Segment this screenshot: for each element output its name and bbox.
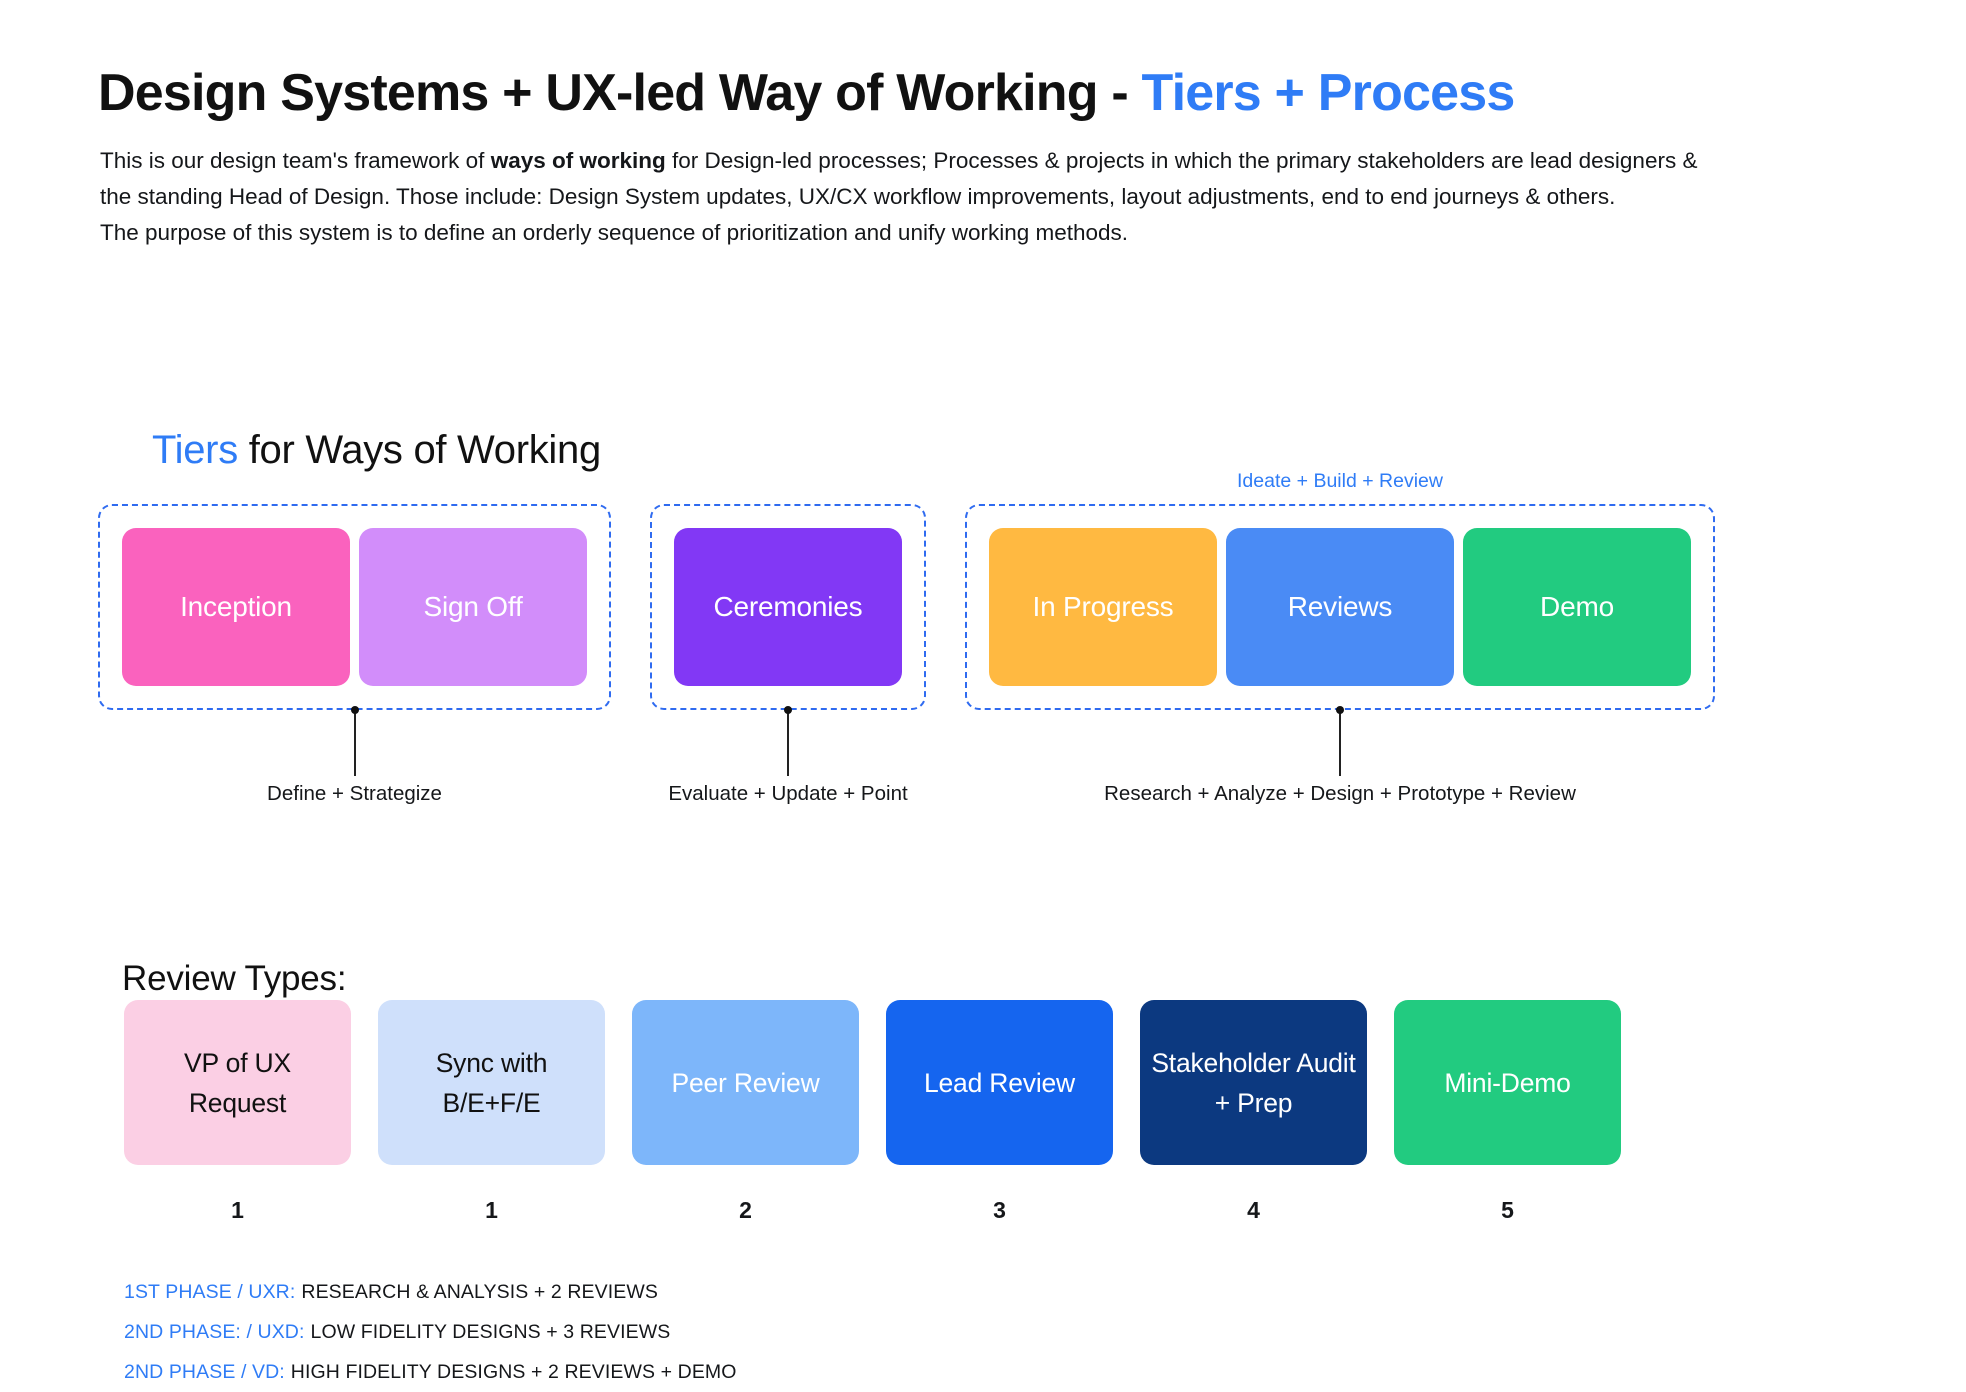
tier-group-caption: Evaluate + Update + Point	[668, 782, 907, 806]
tier-group-top-caption: Ideate + Build + Review	[965, 470, 1715, 493]
review-card-stakeholder-audit-prep[interactable]: Stakeholder Audit + Prep	[1140, 1000, 1367, 1165]
tier-group-evaluate: Ceremonies Evaluate + Update + Point	[650, 504, 926, 710]
review-item: Peer Review 2	[632, 1000, 859, 1224]
legend-line: 1ST PHASE / UXR:RESEARCH & ANALYSIS + 2 …	[124, 1272, 737, 1312]
tier-card-label: Inception	[180, 591, 292, 623]
intro-text-line2: The purpose of this system is to define …	[100, 220, 1128, 245]
page-title-accent: Tiers + Process	[1142, 64, 1515, 122]
review-card-number: 1	[485, 1197, 498, 1224]
tier-card-label: Demo	[1540, 591, 1614, 623]
tier-group-box: In Progress Reviews Demo	[965, 504, 1715, 710]
legend-line: 2ND PHASE / VD:HIGH FIDELITY DESIGNS + 2…	[124, 1352, 737, 1392]
review-card-number: 3	[993, 1197, 1006, 1224]
tier-group-box: Inception Sign Off	[98, 504, 611, 710]
tier-group-ideate: Ideate + Build + Review In Progress Revi…	[965, 504, 1715, 710]
review-card-label: Mini-Demo	[1444, 1063, 1570, 1103]
review-card-sync-with-be-fe[interactable]: Sync with B/E+F/E	[378, 1000, 605, 1165]
intro-text-bold: ways of working	[491, 148, 666, 173]
legend-value: HIGH FIDELITY DESIGNS + 2 REVIEWS + DEMO	[291, 1361, 737, 1383]
tiers-row: Inception Sign Off Define + Strategize C…	[98, 504, 1715, 710]
tier-group-caption: Define + Strategize	[267, 782, 442, 806]
connector-line	[354, 710, 356, 776]
review-item: Sync with B/E+F/E 1	[378, 1000, 605, 1224]
page-title-main: Design Systems + UX-led Way of Working -	[98, 64, 1142, 122]
legend-line: 2ND PHASE: / UXD:LOW FIDELITY DESIGNS + …	[124, 1312, 737, 1352]
tier-card-demo[interactable]: Demo	[1463, 528, 1691, 686]
review-card-label: VP of UX Request	[134, 1043, 341, 1123]
tier-card-in-progress[interactable]: In Progress	[989, 528, 1217, 686]
review-card-label: Stakeholder Audit + Prep	[1150, 1043, 1357, 1123]
tier-card-inception[interactable]: Inception	[122, 528, 350, 686]
tiers-heading-rest: for Ways of Working	[238, 428, 601, 472]
tier-group-box: Ceremonies	[650, 504, 926, 710]
intro-text-part1: This is our design team's framework of	[100, 148, 491, 173]
review-card-mini-demo[interactable]: Mini-Demo	[1394, 1000, 1621, 1165]
review-card-number: 4	[1247, 1197, 1260, 1224]
tier-card-label: Sign Off	[423, 591, 522, 623]
review-types-heading: Review Types:	[122, 959, 346, 999]
page-title: Design Systems + UX-led Way of Working -…	[98, 63, 1515, 123]
review-item: Mini-Demo 5	[1394, 1000, 1621, 1224]
tier-card-label: Reviews	[1288, 591, 1392, 623]
review-card-label: Peer Review	[671, 1063, 819, 1103]
review-item: VP of UX Request 1	[124, 1000, 351, 1224]
phase-legend: 1ST PHASE / UXR:RESEARCH & ANALYSIS + 2 …	[124, 1272, 737, 1392]
tier-group-define: Inception Sign Off Define + Strategize	[98, 504, 611, 710]
review-card-number: 1	[231, 1197, 244, 1224]
tiers-heading: Tiers for Ways of Working	[152, 428, 601, 473]
tier-card-ceremonies[interactable]: Ceremonies	[674, 528, 902, 686]
legend-label: 2ND PHASE / VD:	[124, 1361, 285, 1383]
tier-group-caption: Research + Analyze + Design + Prototype …	[1104, 782, 1576, 806]
intro-paragraph: This is our design team's framework of w…	[100, 143, 1720, 251]
legend-value: RESEARCH & ANALYSIS + 2 REVIEWS	[301, 1281, 658, 1303]
review-card-lead-review[interactable]: Lead Review	[886, 1000, 1113, 1165]
review-types-row: VP of UX Request 1 Sync with B/E+F/E 1 P…	[124, 1000, 1621, 1224]
review-item: Lead Review 3	[886, 1000, 1113, 1224]
review-card-label: Lead Review	[924, 1063, 1075, 1103]
legend-value: LOW FIDELITY DESIGNS + 3 REVIEWS	[311, 1321, 671, 1343]
tier-card-reviews[interactable]: Reviews	[1226, 528, 1454, 686]
review-card-peer-review[interactable]: Peer Review	[632, 1000, 859, 1165]
tier-card-sign-off[interactable]: Sign Off	[359, 528, 587, 686]
review-card-vp-of-ux-request[interactable]: VP of UX Request	[124, 1000, 351, 1165]
connector-line	[787, 710, 789, 776]
legend-label: 2ND PHASE: / UXD:	[124, 1321, 305, 1343]
review-card-number: 2	[739, 1197, 752, 1224]
tiers-heading-accent: Tiers	[152, 428, 238, 472]
legend-label: 1ST PHASE / UXR:	[124, 1281, 295, 1303]
tier-card-label: Ceremonies	[714, 591, 863, 623]
tier-card-label: In Progress	[1033, 591, 1174, 623]
review-item: Stakeholder Audit + Prep 4	[1140, 1000, 1367, 1224]
review-card-label: Sync with B/E+F/E	[388, 1043, 595, 1123]
connector-line	[1339, 710, 1341, 776]
review-card-number: 5	[1501, 1197, 1514, 1224]
